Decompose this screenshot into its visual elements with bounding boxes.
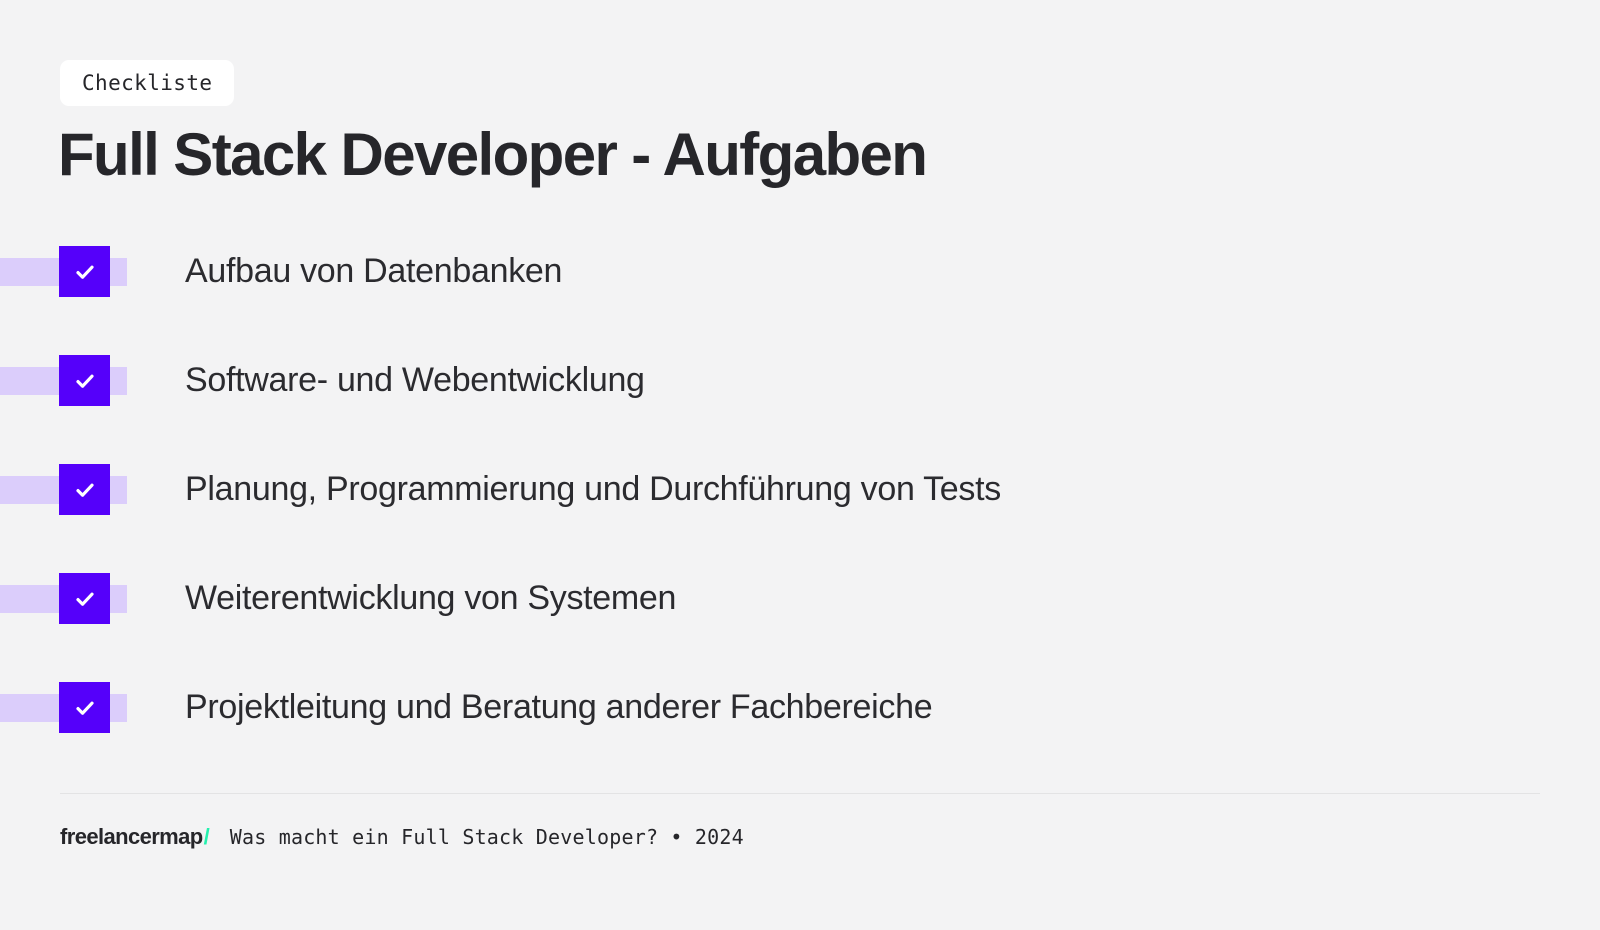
- checklist: Aufbau von Datenbanken Software- und Web…: [0, 245, 1600, 790]
- checklist-row[interactable]: Projektleitung und Beratung anderer Fach…: [0, 681, 1600, 790]
- checklist-row[interactable]: Planung, Programmierung und Durchführung…: [0, 463, 1600, 572]
- checklist-row-label: Weiterentwicklung von Systemen: [185, 572, 676, 624]
- checklist-row[interactable]: Software- und Webentwicklung: [0, 354, 1600, 463]
- checkbox-checked[interactable]: [59, 573, 110, 624]
- checklist-row-label: Software- und Webentwicklung: [185, 354, 645, 406]
- check-icon: [73, 260, 97, 284]
- badge-label: Checkliste: [82, 71, 212, 95]
- footer-divider: [60, 793, 1540, 794]
- checklist-row[interactable]: Weiterentwicklung von Systemen: [0, 572, 1600, 681]
- page-title: Full Stack Developer - Aufgaben: [58, 116, 926, 194]
- footer-meta-text: Was macht ein Full Stack Developer? • 20…: [230, 825, 744, 849]
- check-icon: [73, 587, 97, 611]
- checkbox-checked[interactable]: [59, 246, 110, 297]
- footer: freelancermap / Was macht ein Full Stack…: [60, 824, 744, 850]
- checklist-row-label: Projektleitung und Beratung anderer Fach…: [185, 681, 932, 733]
- checklist-page: Checkliste Full Stack Developer - Aufgab…: [0, 0, 1600, 930]
- check-icon: [73, 478, 97, 502]
- checklist-row-label: Aufbau von Datenbanken: [185, 245, 562, 297]
- check-icon: [73, 369, 97, 393]
- checkbox-checked[interactable]: [59, 682, 110, 733]
- check-icon: [73, 696, 97, 720]
- checkbox-checked[interactable]: [59, 464, 110, 515]
- checkliste-badge: Checkliste: [60, 60, 234, 106]
- checklist-row[interactable]: Aufbau von Datenbanken: [0, 245, 1600, 354]
- checkbox-checked[interactable]: [59, 355, 110, 406]
- brand-slash-icon: /: [204, 824, 210, 850]
- checklist-row-label: Planung, Programmierung und Durchführung…: [185, 463, 1001, 515]
- brand-logo-text: freelancermap: [60, 824, 203, 850]
